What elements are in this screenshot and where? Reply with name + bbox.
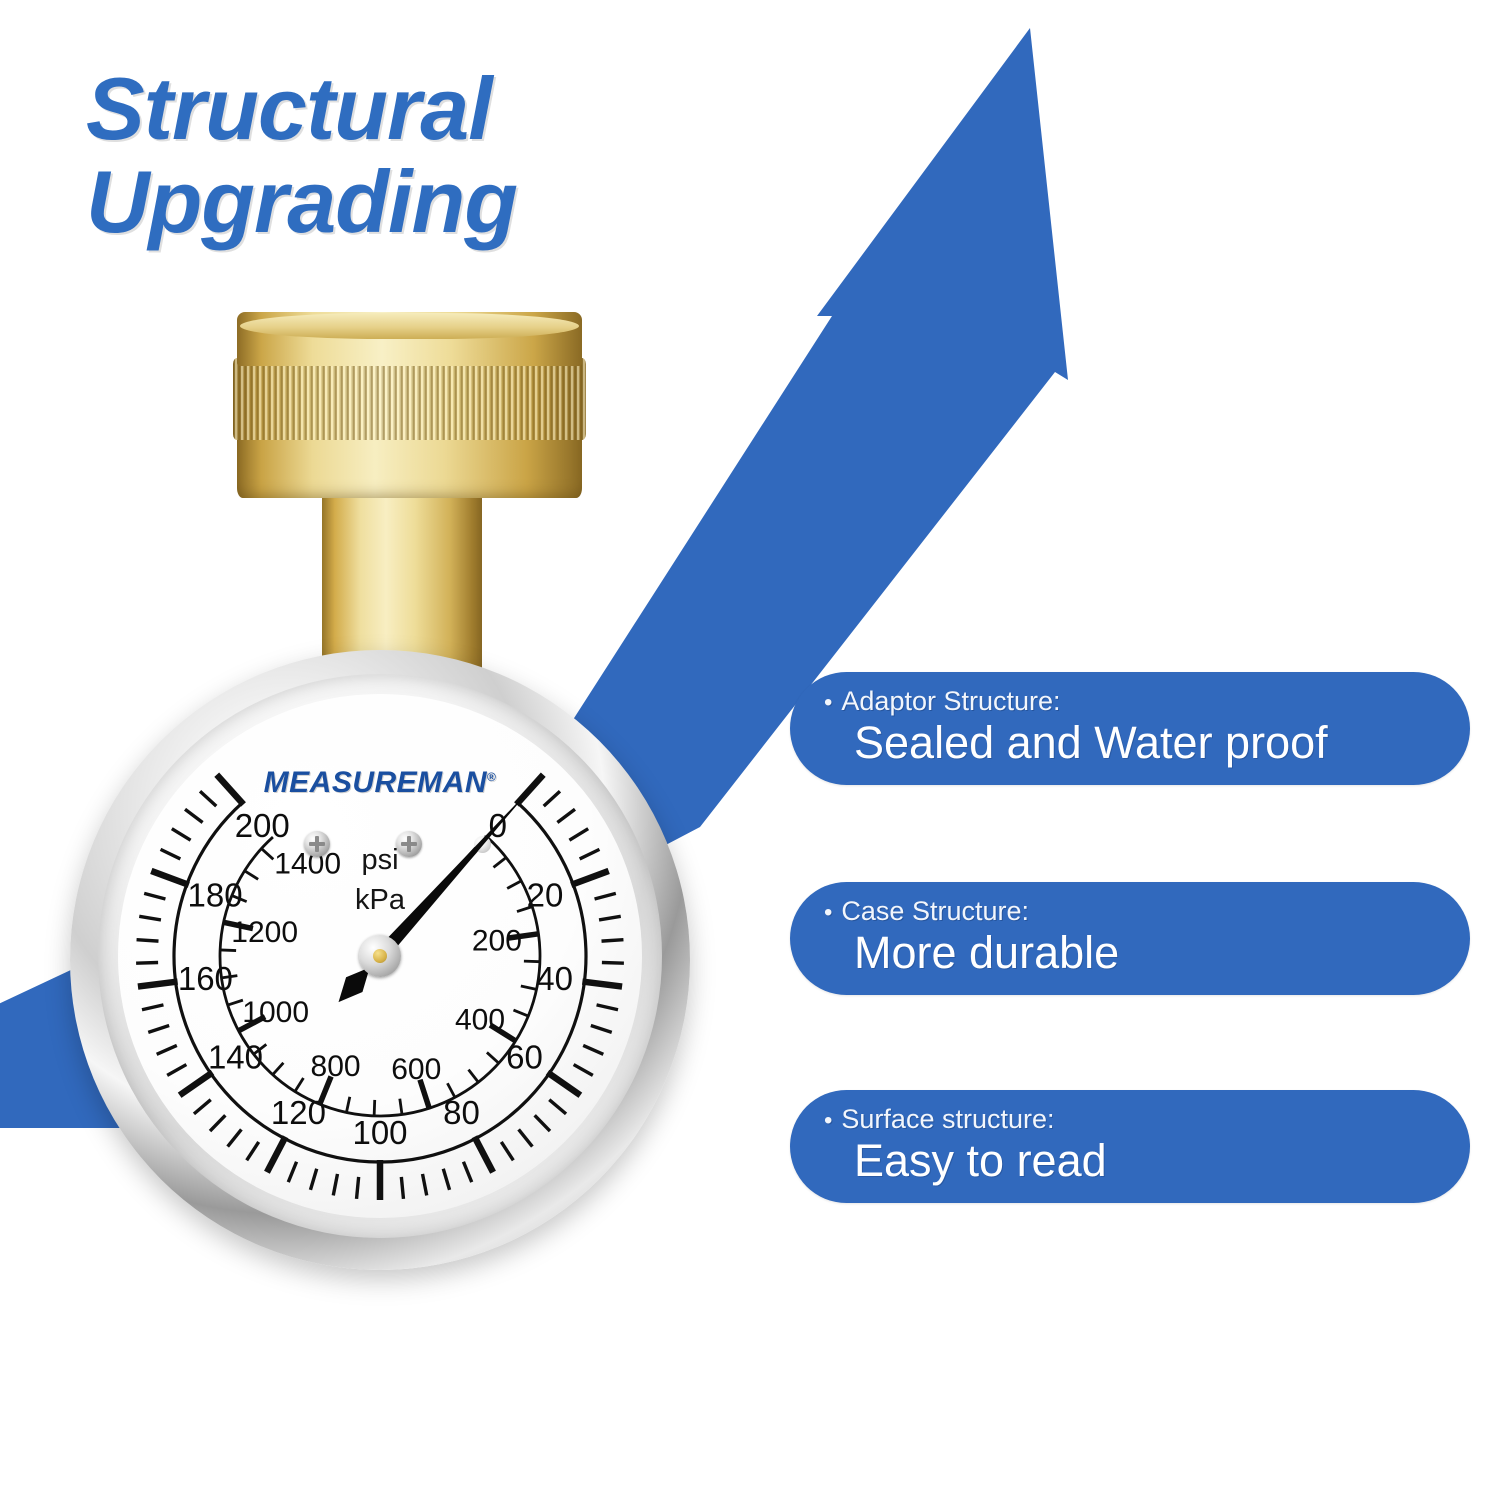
callout-heading: •Adaptor Structure:	[824, 686, 1436, 717]
callout-value: Easy to read	[854, 1136, 1436, 1186]
bullet-icon: •	[824, 689, 832, 716]
callout-value: Sealed and Water proof	[854, 718, 1436, 768]
marketing-infographic: Structural Upgrading 0204060801001201401…	[0, 0, 1500, 1500]
callout-case-structure[interactable]: •Case Structure: More durable	[790, 882, 1470, 995]
callout-heading: •Surface structure:	[824, 1104, 1436, 1135]
bullet-icon: •	[824, 1107, 832, 1134]
feature-callouts: •Adaptor Structure: Sealed and Water pro…	[0, 0, 1500, 1500]
callout-heading-text: Case Structure:	[841, 896, 1029, 926]
callout-surface-structure[interactable]: •Surface structure: Easy to read	[790, 1090, 1470, 1203]
callout-heading-text: Surface structure:	[841, 1104, 1054, 1134]
callout-value: More durable	[854, 928, 1436, 978]
callout-heading: •Case Structure:	[824, 896, 1436, 927]
bullet-icon: •	[824, 899, 832, 926]
callout-adaptor-structure[interactable]: •Adaptor Structure: Sealed and Water pro…	[790, 672, 1470, 785]
callout-heading-text: Adaptor Structure:	[841, 686, 1060, 716]
